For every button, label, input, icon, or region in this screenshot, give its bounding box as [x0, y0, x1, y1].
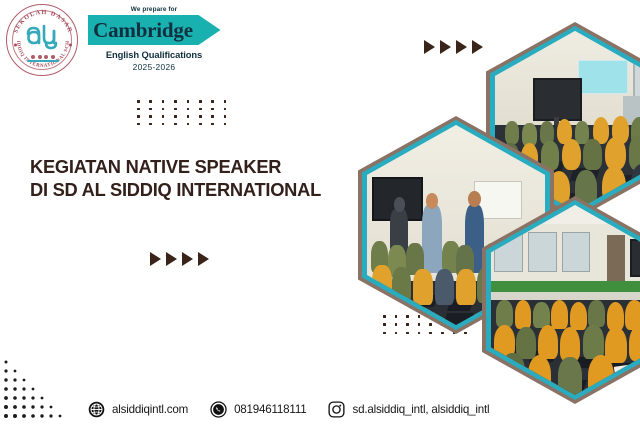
cambridge-years: 2025-2026: [84, 62, 224, 72]
cambridge-prepare-line: We prepare for: [84, 6, 224, 13]
headline-line-1: KEGIATAN NATIVE SPEAKER: [30, 156, 360, 179]
contact-bar: alsiddiqintl.com 081946118111 sd.alsiddi…: [88, 396, 489, 422]
poster-canvas: SEKOLAH DASAR AL SIDDIQ INTERNATIONAL SC…: [0, 0, 640, 426]
seal-monogram-icon: [21, 21, 65, 55]
seal-accent-bar: [27, 60, 59, 62]
dot-grid-top: [137, 100, 236, 130]
triangle-arrow-icon: [198, 252, 209, 266]
globe-icon: [88, 401, 105, 418]
cambridge-wordmark: Cambridge: [88, 15, 199, 45]
photo-image-hall-assembly: [491, 205, 640, 395]
photo-cluster: [358, 0, 640, 388]
contact-website[interactable]: alsiddiqintl.com: [88, 401, 188, 418]
cambridge-badge: We prepare for Cambridge English Qualifi…: [84, 4, 224, 76]
contact-instagram[interactable]: sd.alsiddiq_intl, alsiddiq_intl: [328, 401, 489, 418]
triangle-arrow-icon: [150, 252, 161, 266]
contact-instagram-label: sd.alsiddiq_intl, alsiddiq_intl: [352, 403, 489, 416]
arrow-group-left: [150, 252, 209, 266]
seal-accent-dots: [31, 54, 55, 59]
cambridge-subtitle: English Qualifications: [84, 49, 224, 60]
contact-whatsapp[interactable]: 081946118111: [210, 401, 306, 418]
headline-line-2: DI SD AL SIDDIQ INTERNATIONAL: [30, 179, 360, 202]
triangle-arrow-icon: [182, 252, 193, 266]
contact-website-label: alsiddiqintl.com: [112, 403, 188, 416]
triangle-arrow-icon: [166, 252, 177, 266]
cambridge-arrow-banner: Cambridge: [88, 15, 221, 45]
school-logo-seal: SEKOLAH DASAR AL SIDDIQ INTERNATIONAL SC…: [6, 4, 78, 76]
instagram-icon: [328, 401, 345, 418]
halftone-corner-decor: [2, 358, 86, 420]
contact-whatsapp-label: 081946118111: [234, 403, 306, 416]
page-title: KEGIATAN NATIVE SPEAKER DI SD AL SIDDIQ …: [30, 156, 360, 202]
whatsapp-icon: [210, 401, 227, 418]
